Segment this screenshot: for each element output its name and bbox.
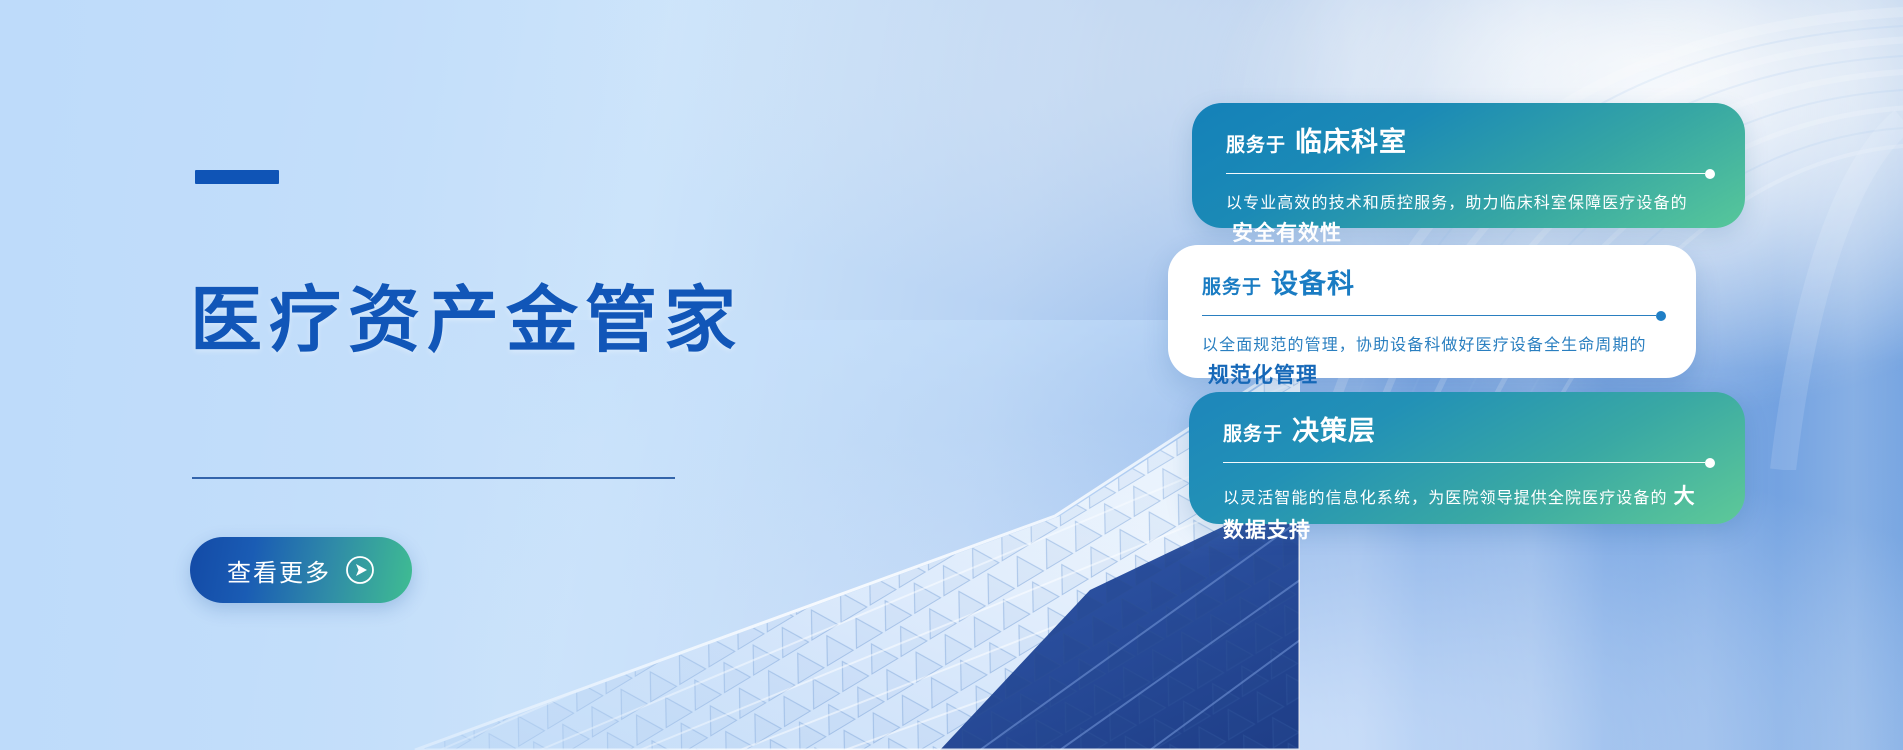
service-card-clinical[interactable]: 服务于 临床科室 以专业高效的技术和质控服务，助力临床科室保障医疗设备的安全有效…	[1192, 103, 1745, 228]
card-line-dot	[1656, 311, 1666, 321]
card-heading: 服务于 设备科	[1202, 271, 1666, 298]
card-line-bar	[1223, 462, 1705, 463]
card-heading-prefix: 服务于	[1223, 425, 1283, 444]
card-body: 以灵活智能的信息化系统，为医院领导提供全院医疗设备的大数据支持	[1223, 479, 1715, 547]
card-heading-prefix: 服务于	[1226, 136, 1286, 155]
card-line-bar	[1202, 315, 1656, 316]
card-body: 以专业高效的技术和质控服务，助力临床科室保障医疗设备的安全有效性	[1226, 190, 1715, 250]
card-line-bar	[1226, 173, 1705, 174]
hero-banner: 医疗资产金管家 查看更多 服务于 临床科室 以专业高效的技术和	[0, 0, 1903, 750]
card-progress-line	[1223, 458, 1715, 467]
card-body-text: 以全面规范的管理，协助设备科做好医疗设备全生命周期的	[1202, 335, 1647, 354]
card-line-dot	[1705, 169, 1715, 179]
card-progress-line	[1226, 169, 1715, 178]
card-heading: 服务于 决策层	[1223, 418, 1715, 445]
card-heading-prefix: 服务于	[1202, 278, 1262, 297]
card-heading-target: 决策层	[1292, 418, 1376, 445]
card-body: 以全面规范的管理，协助设备科做好医疗设备全生命周期的规范化管理	[1202, 332, 1666, 392]
card-heading: 服务于 临床科室	[1226, 129, 1715, 156]
card-line-dot	[1705, 458, 1715, 468]
card-heading-target: 临床科室	[1295, 129, 1407, 156]
service-cards: 服务于 临床科室 以专业高效的技术和质控服务，助力临床科室保障医疗设备的安全有效…	[0, 0, 1903, 750]
card-body-text: 以专业高效的技术和质控服务，助力临床科室保障医疗设备的	[1226, 193, 1688, 212]
card-body-text: 以灵活智能的信息化系统，为医院领导提供全院医疗设备的	[1223, 488, 1668, 507]
card-highlight: 规范化管理	[1202, 363, 1318, 387]
service-card-decision[interactable]: 服务于 决策层 以灵活智能的信息化系统，为医院领导提供全院医疗设备的大数据支持	[1189, 392, 1745, 524]
service-card-equipment[interactable]: 服务于 设备科 以全面规范的管理，协助设备科做好医疗设备全生命周期的规范化管理	[1168, 245, 1696, 378]
card-progress-line	[1202, 311, 1666, 320]
card-heading-target: 设备科	[1271, 271, 1355, 298]
card-highlight: 安全有效性	[1226, 221, 1342, 245]
